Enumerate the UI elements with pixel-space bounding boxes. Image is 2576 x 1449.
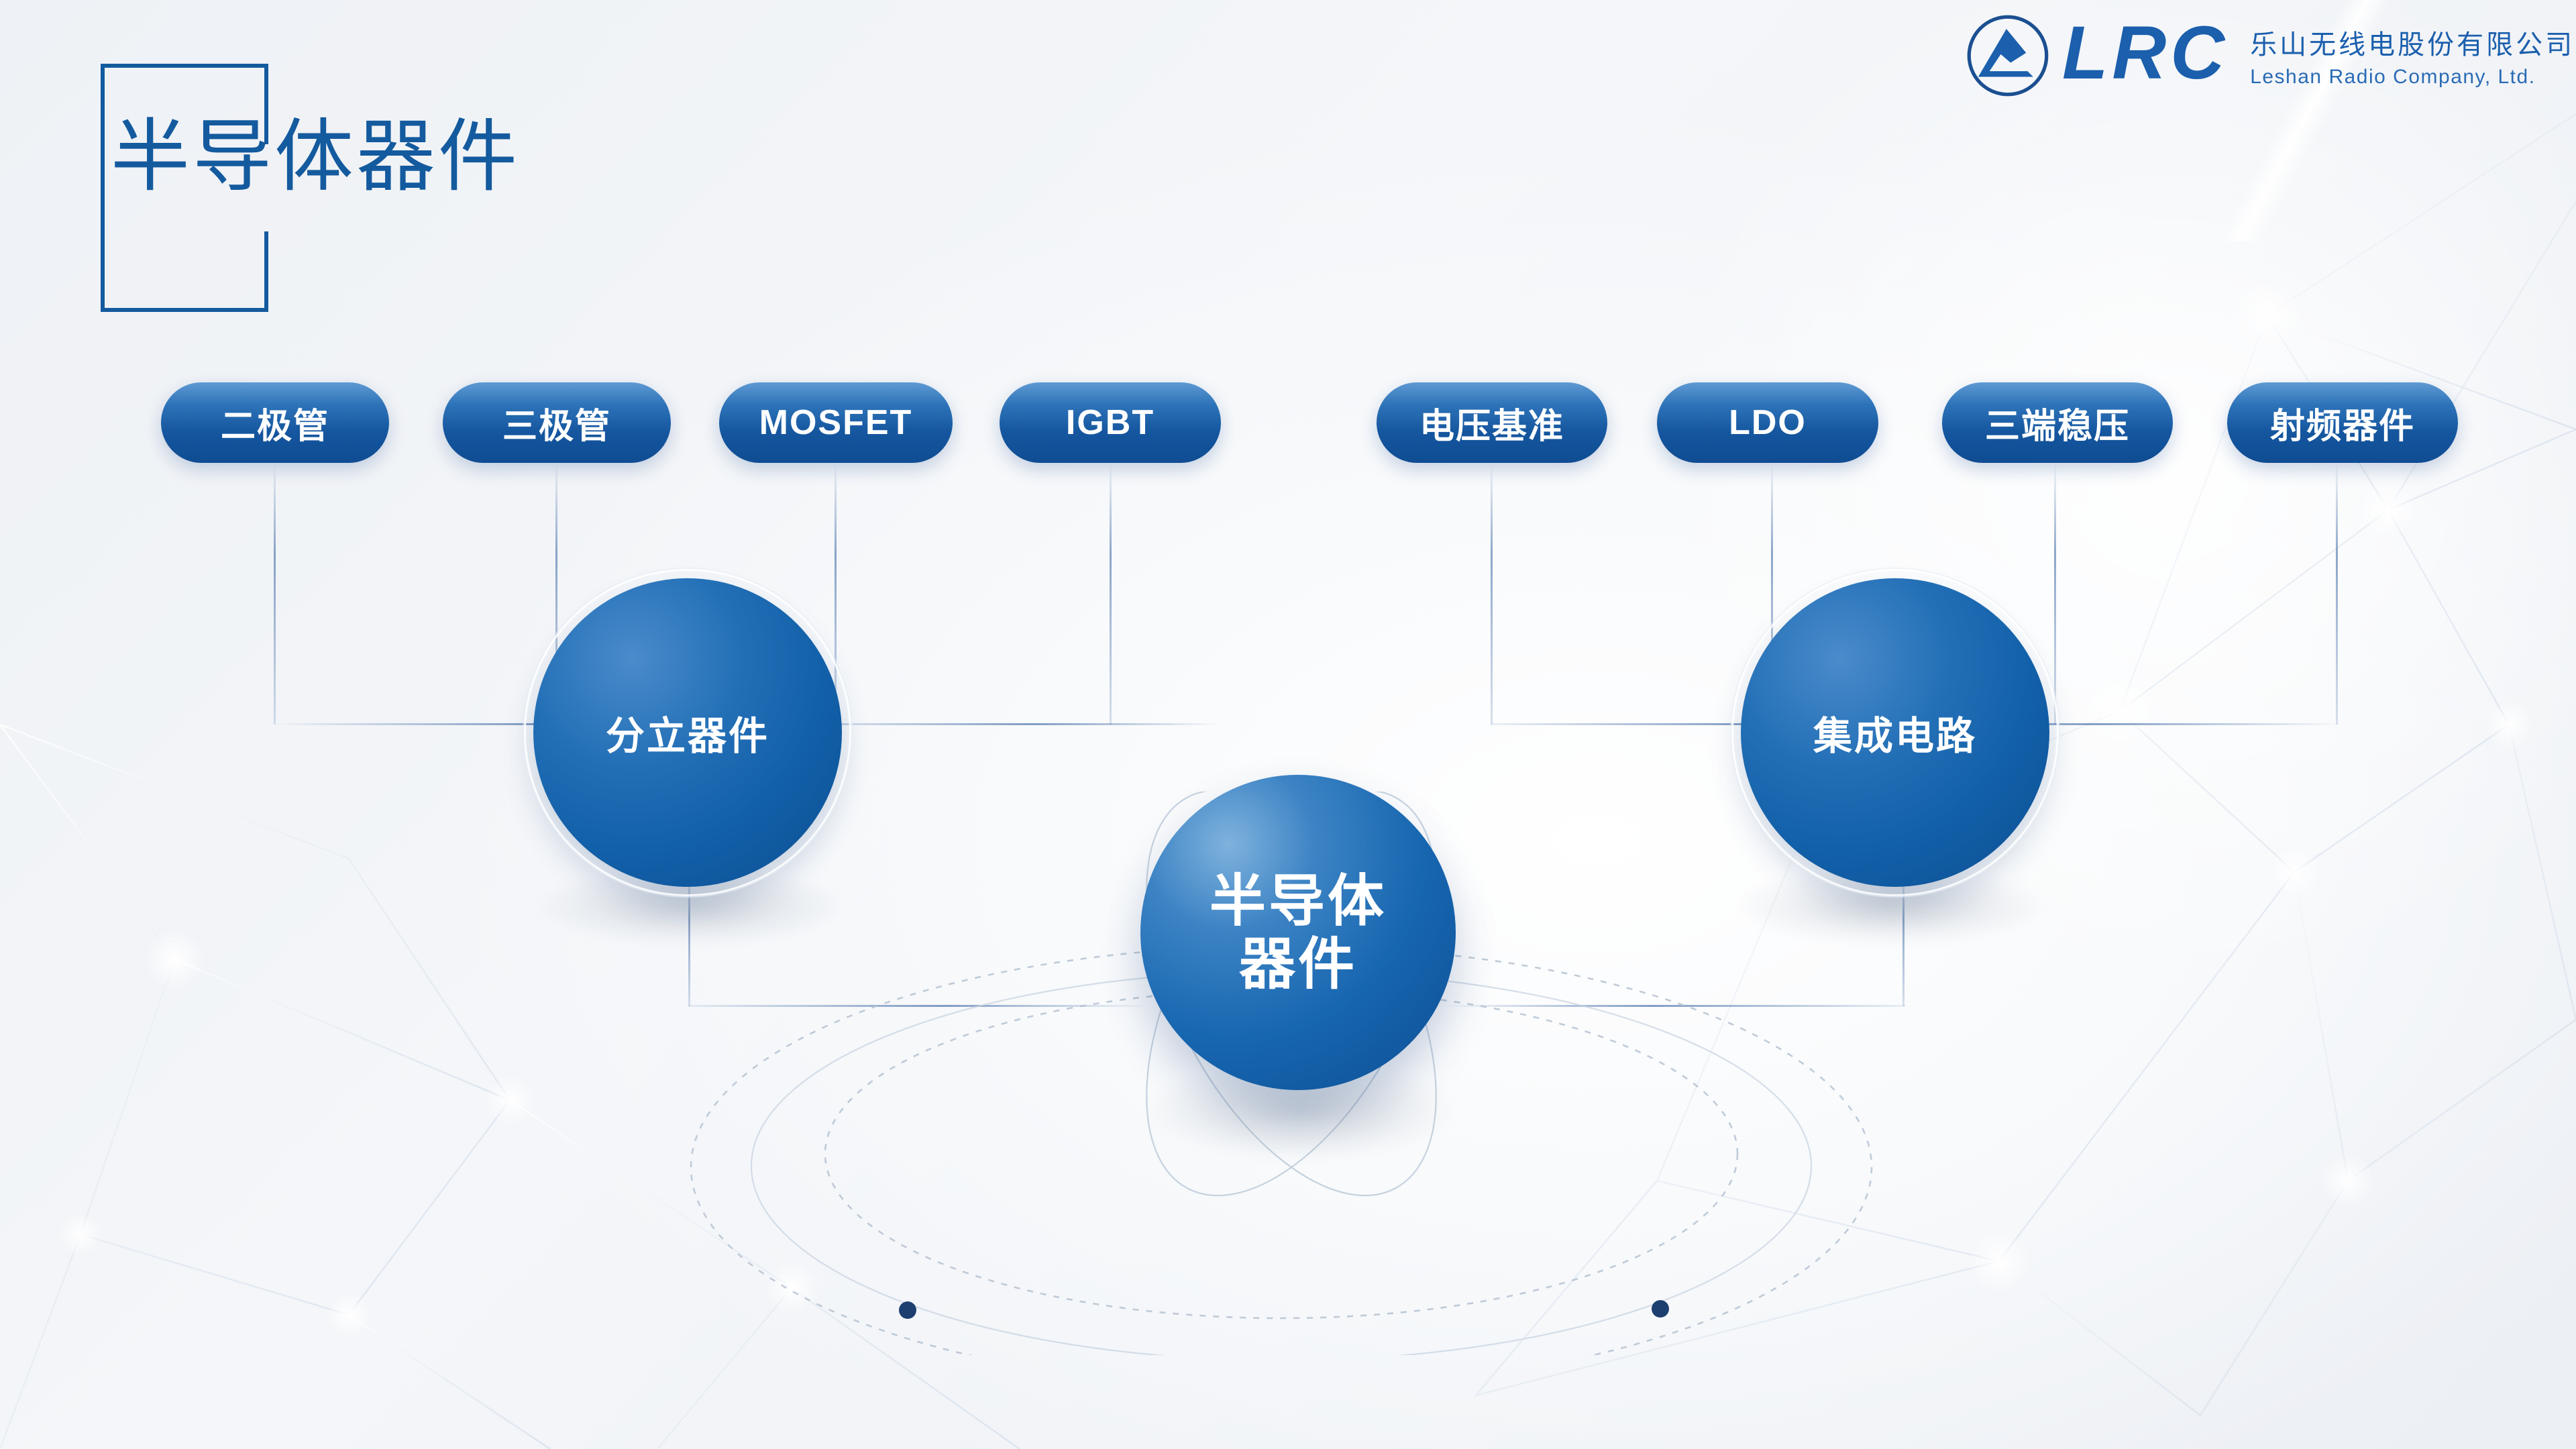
- company-name-cn: 乐山无线电股份有限公司: [2250, 23, 2575, 62]
- logo-wordmark: LRC: [2062, 15, 2229, 91]
- lrc-circle-triangle-mark: [1966, 13, 2050, 98]
- pill-diode[interactable]: 二极管: [161, 382, 389, 463]
- pill-three-terminal-regulator[interactable]: 三端稳压: [1942, 382, 2173, 463]
- page-title: 半导体器件: [111, 117, 520, 197]
- logo-company-text: 乐山无线电股份有限公司 Leshan Radio Company, Ltd.: [2250, 23, 2575, 89]
- node-semiconductor-core[interactable]: 半导体 器件: [1140, 775, 1456, 1090]
- slide-canvas: LRC 乐山无线电股份有限公司 Leshan Radio Company, Lt…: [0, 0, 2576, 1449]
- connector-line-rf: [2336, 463, 2338, 724]
- core-label-line2: 器件: [1210, 932, 1387, 996]
- pill-triode[interactable]: 三极管: [443, 382, 671, 463]
- orbit-dot-right: [1652, 1300, 1669, 1318]
- core-label-block: 半导体 器件: [1210, 869, 1387, 996]
- connector-line-diode: [274, 463, 276, 724]
- node-discrete-devices[interactable]: 分立器件: [533, 578, 842, 887]
- node-integrated-circuits[interactable]: 集成电路: [1741, 578, 2049, 887]
- background-network-pattern: [0, 0, 2576, 1449]
- connector-rail-discrete-right: [805, 723, 1221, 725]
- node-discrete-label: 分立器件: [606, 704, 769, 761]
- pill-rf-device[interactable]: 射频器件: [2227, 382, 2458, 463]
- pill-mosfet[interactable]: MOSFET: [719, 382, 953, 463]
- connector-line-3term: [2054, 463, 2056, 724]
- pill-ldo[interactable]: LDO: [1657, 382, 1878, 463]
- orbit-dot-left: [899, 1301, 916, 1319]
- connector-line-ic-to-core: [1442, 1005, 1905, 1007]
- background-glow: [1570, 0, 2576, 1073]
- connector-line-vref: [1491, 463, 1493, 724]
- node-ic-label: 集成电路: [1813, 704, 1977, 761]
- company-logo: LRC 乐山无线电股份有限公司 Leshan Radio Company, Lt…: [1966, 13, 2575, 98]
- connector-line-discrete-to-core: [688, 1005, 1151, 1007]
- core-label-line1: 半导体: [1210, 869, 1387, 932]
- pill-voltage-reference[interactable]: 电压基准: [1377, 382, 1607, 463]
- connector-line-igbt: [1110, 463, 1112, 724]
- company-name-en: Leshan Radio Company, Ltd.: [2250, 66, 2575, 89]
- pill-igbt[interactable]: IGBT: [1000, 382, 1221, 463]
